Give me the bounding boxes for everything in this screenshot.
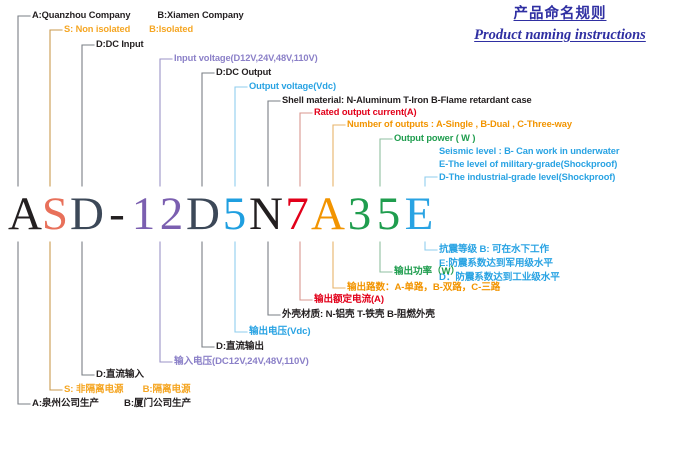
label-output-voltage: Output voltage(Vdc) [249,81,336,92]
label-seismic-line1: Seismic level : B- Can work in underwate… [439,146,619,157]
label-dc-output: D:DC Output [216,67,271,78]
code-char-3: - [104,188,130,240]
label-seismic-line3: D-The industrial-grade level(Shockproof) [439,172,619,183]
label-input-voltage-cn: 输入电压(DC12V,24V,48V,110V) [174,356,309,367]
label-output-power-cn: 输出功率（W） [394,266,460,277]
label-company-text2: B:Xiamen Company [157,10,243,20]
label-dc-output-cn: D:直流输出 [216,341,264,352]
code-char-13: E [403,188,435,240]
code-char-8: N [249,188,283,240]
page-title-en: Product naming instructions [424,27,696,44]
label-company-cn-text2: B:厦门公司生产 [124,398,191,409]
label-rated-current-cn: 输出额定电流(A) [314,294,384,305]
label-shell-material: Shell material: N-Aluminum T-Iron B-Flam… [282,95,532,106]
code-char-2: D [70,188,104,240]
code-char-6: D [186,188,220,240]
code-char-11: 3 [345,188,374,240]
label-shell-material-cn: 外壳材质: N-铝壳 T-铁壳 B-阻燃外壳 [282,309,435,320]
label-number-of-outputs: Number of outputs : A-Single , B-Dual , … [347,119,572,130]
code-char-4: 1 [130,188,157,240]
label-input-voltage: Input voltage(D12V,24V,48V,110V) [174,53,318,64]
label-isolation-cn-text: S: 非隔离电源 [64,384,123,395]
code-char-5: 2 [157,188,186,240]
label-number-of-outputs-cn: 输出路数：A-单路，B-双路，C-三路 [347,282,500,293]
code-char-0: A [8,188,40,240]
label-dc-input-cn: D:直流输入 [96,369,144,380]
label-isolation-text2: B:Isolated [149,24,193,34]
page-title-cn: 产品命名规则 [424,2,696,25]
label-seismic-cn-line1: 抗震等级 B: 可在水下工作 [439,244,560,255]
label-company: A:Quanzhou Company B:Xiamen Company [32,10,244,21]
label-isolation: S: Non isolated B:Isolated [64,24,193,35]
code-char-12: 5 [374,188,403,240]
code-char-1: S [40,188,70,240]
page-title: 产品命名规则 Product naming instructions [424,2,696,44]
label-output-power: Output power ( W ) [394,133,475,144]
label-company-cn-text: A:泉州公司生产 [32,398,99,409]
label-company-text: A:Quanzhou Company [32,10,130,20]
label-isolation-cn-text2: B:隔离电源 [143,384,191,395]
code-char-7: 5 [220,188,249,240]
label-seismic-level: Seismic level : B- Can work in underwate… [439,146,619,183]
naming-rule-diagram: 产品命名规则 Product naming instructions A:Qua… [0,0,700,455]
code-char-10: A [311,188,345,240]
label-seismic-level-cn: 抗震等级 B: 可在水下工作 E:防震系数达到军用级水平 D：防震系数达到工业级… [439,244,560,283]
label-output-voltage-cn: 输出电压(Vdc) [249,326,310,337]
label-company-cn: A:泉州公司生产 B:厦门公司生产 [32,398,191,409]
label-dc-input: D:DC Input [96,39,144,50]
label-seismic-line2: E-The level of military-grade(Shockproof… [439,159,619,170]
code-char-9: 7 [283,188,311,240]
label-isolation-cn: S: 非隔离电源 B:隔离电源 [64,384,191,395]
label-rated-current: Rated output current(A) [314,107,417,118]
product-code: A S D - 1 2 D 5 N 7 A 3 5 E [8,186,435,242]
label-isolation-text: S: Non isolated [64,24,130,34]
